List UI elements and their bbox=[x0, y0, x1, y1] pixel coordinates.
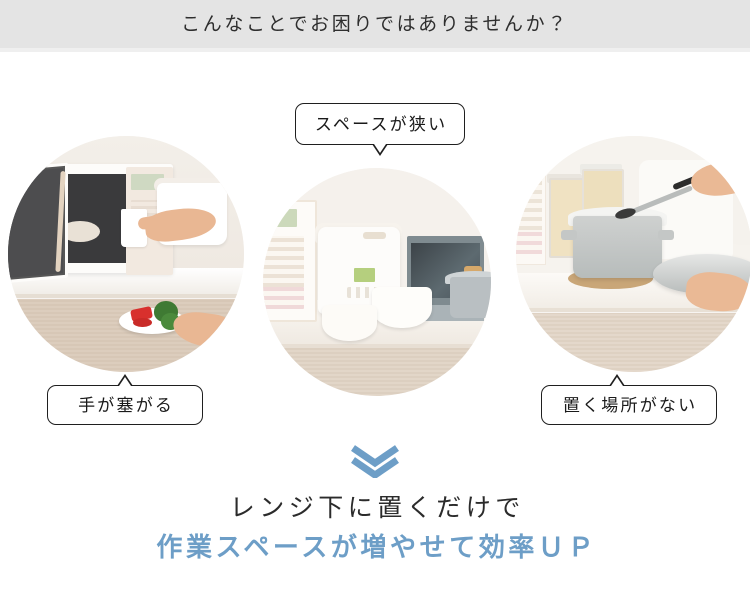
microwave-keypad-pink bbox=[263, 287, 304, 310]
caption-line-1: レンジ下に置くだけで bbox=[0, 492, 750, 526]
tomato-slice bbox=[133, 318, 152, 327]
microwave-keypad bbox=[516, 169, 542, 230]
callout-label: 置く場所がない bbox=[561, 397, 698, 414]
callout-label: スペースが狭い bbox=[313, 116, 448, 133]
header-band: こんなことでお困りではありませんか？ bbox=[0, 0, 750, 48]
metal-pot bbox=[450, 277, 491, 318]
scene-pot-ladle-lid bbox=[516, 136, 750, 372]
white-bowl bbox=[372, 287, 431, 328]
bottom-caption: レンジ下に置くだけで 作業スペースが増やせて効率ＵＰ bbox=[0, 492, 750, 565]
promo-page: こんなことでお困りではありませんか？ bbox=[0, 0, 750, 600]
counter-front bbox=[516, 313, 750, 372]
arrow-container bbox=[0, 444, 750, 478]
pot-handle-left bbox=[561, 230, 578, 239]
page-title: こんなことでお困りではありませんか？ bbox=[181, 15, 569, 34]
double-chevron-down-icon bbox=[349, 444, 401, 478]
photo-crowded-counter bbox=[263, 168, 491, 396]
rice-cooker-handle bbox=[363, 232, 386, 239]
scene-microwave-hands bbox=[8, 136, 244, 372]
callout-space-narrow: スペースが狭い bbox=[295, 103, 465, 145]
rice-cooker-display bbox=[354, 268, 375, 282]
caption-line-2: 作業スペースが増やせて効率ＵＰ bbox=[0, 530, 750, 565]
white-bowl bbox=[322, 305, 377, 341]
callout-hands-full: 手が塞がる bbox=[47, 385, 203, 425]
scene-crowded-counter bbox=[263, 168, 491, 396]
microwave-display bbox=[263, 209, 297, 227]
callout-no-place: 置く場所がない bbox=[541, 385, 717, 425]
callout-label: 手が塞がる bbox=[76, 397, 174, 414]
counter-edge bbox=[8, 294, 244, 298]
pot-handle-right bbox=[658, 230, 675, 239]
counter-front bbox=[263, 348, 491, 396]
counter-edge bbox=[263, 344, 491, 348]
gray-cooking-pot bbox=[573, 216, 663, 277]
photo-pot-ladle-lid bbox=[516, 136, 750, 372]
photo-microwave-hands bbox=[8, 136, 244, 372]
microwave-keypad-pink bbox=[516, 230, 542, 254]
